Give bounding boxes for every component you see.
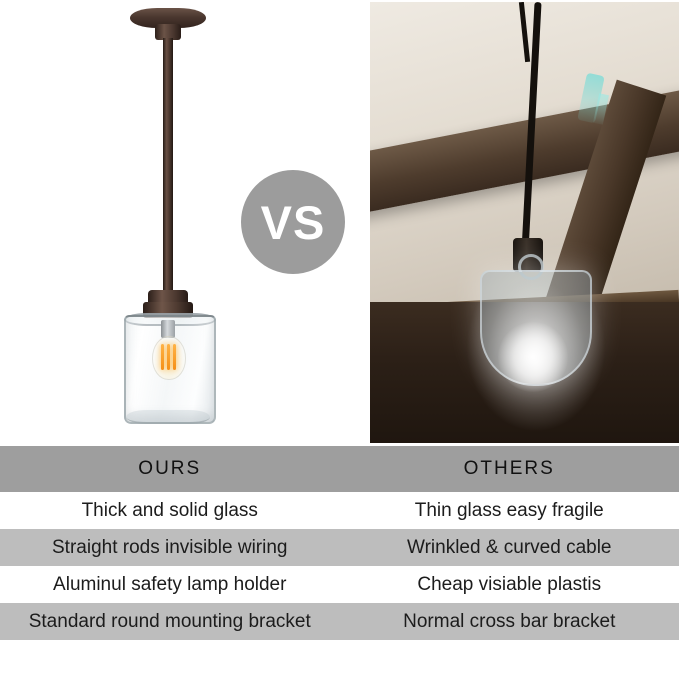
table-row: Standard round mounting bracket Normal c…: [0, 603, 679, 640]
cell-others: Thin glass easy fragile: [340, 492, 679, 529]
cell-others-label: Thin glass easy fragile: [415, 500, 604, 522]
straight-rod: [163, 38, 173, 294]
table-row: Aluminul safety lamp holder Cheap visiab…: [0, 566, 679, 603]
header-ours: OURS: [0, 446, 340, 492]
table-row: Straight rods invisible wiring Wrinkled …: [0, 529, 679, 566]
cell-others-label: Normal cross bar bracket: [403, 611, 615, 633]
cell-ours: Aluminul safety lamp holder: [0, 566, 340, 603]
bulb-filament: [167, 344, 170, 370]
cell-ours-label: Aluminul safety lamp holder: [53, 574, 286, 596]
cell-ours-label: Thick and solid glass: [82, 500, 258, 522]
cell-others-label: Wrinkled & curved cable: [407, 537, 612, 559]
product-comparison-images: VS: [0, 0, 679, 446]
table-header-row: OURS OTHERS: [0, 446, 679, 492]
cell-ours: Thick and solid glass: [0, 492, 340, 529]
cell-others: Normal cross bar bracket: [340, 603, 679, 640]
comparison-infographic: VS OURS OTHERS: [0, 0, 679, 679]
cell-ours-label: Standard round mounting bracket: [29, 611, 311, 633]
cell-others: Cheap visiable plastis: [340, 566, 679, 603]
header-ours-label: OURS: [138, 458, 201, 480]
header-others: OTHERS: [340, 446, 679, 492]
glass-shade-bottom: [126, 410, 210, 424]
cell-ours: Straight rods invisible wiring: [0, 529, 340, 566]
vs-badge: VS: [241, 170, 345, 274]
cell-ours: Standard round mounting bracket: [0, 603, 340, 640]
header-others-label: OTHERS: [464, 458, 555, 480]
cell-ours-label: Straight rods invisible wiring: [52, 537, 288, 559]
table-row: Thick and solid glass Thin glass easy fr…: [0, 492, 679, 529]
vs-badge-label: VS: [261, 195, 326, 250]
bulb-filament: [173, 344, 176, 370]
bulb-glow: [498, 322, 568, 392]
cell-others: Wrinkled & curved cable: [340, 529, 679, 566]
bulb-filament: [161, 344, 164, 370]
others-pendant-light-photo: [370, 2, 679, 443]
cell-others-label: Cheap visiable plastis: [417, 574, 601, 596]
comparison-table: OURS OTHERS Thick and solid glass Thin g…: [0, 446, 679, 679]
